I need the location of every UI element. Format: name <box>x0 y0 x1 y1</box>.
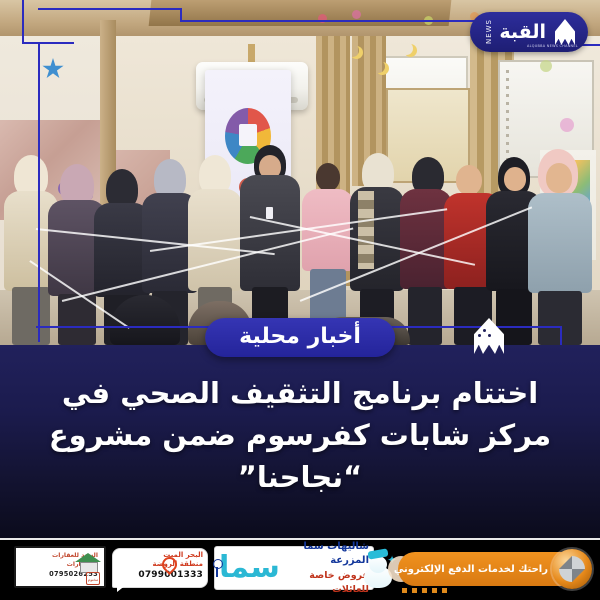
graphic-line <box>22 0 24 44</box>
headline-line-1: اختتام برنامج التثقيف الصحي في <box>26 372 574 414</box>
graphic-line <box>22 42 74 44</box>
person <box>528 149 594 345</box>
sponsor-card-dead-sea[interactable]: البحر الميت منطقة الروضة 0799001333 <box>112 548 208 588</box>
sponsor-1-stamp: مختوم <box>86 572 100 585</box>
news-card: NEWS القبة ALQUBBA NEWS CHANNEL أخبار مح… <box>0 0 600 600</box>
bubble-tail <box>117 585 126 592</box>
ceiling-dot-icon <box>318 14 327 23</box>
ceiling-dot-icon <box>352 10 361 19</box>
logo-subtitle: ALQUBBA NEWS CHANNEL <box>527 44 578 48</box>
sponsor-card-sanad[interactable]: السند للعقارات والسيارات 0795026253 مختو… <box>14 546 106 588</box>
squiggle-decoration <box>402 588 452 593</box>
category-badge[interactable]: أخبار محلية <box>205 318 395 357</box>
sponsor-4-line-1: راحتك لخدمات الدفع الإلكتروني <box>394 564 548 575</box>
sponsor-3-text: شاليهات سما المزرعة عروض خاصة للعائلات <box>284 540 369 597</box>
graphic-line <box>38 42 40 342</box>
sponsor-3-line-2: عروض خاصة للعائلات <box>284 569 369 597</box>
sponsor-2-line-2: منطقة الروضة <box>117 560 203 569</box>
graphic-line <box>180 20 480 22</box>
sponsor-2-line-1: البحر الميت <box>117 551 203 560</box>
rahtak-logo-icon <box>552 549 592 589</box>
ceiling-beam <box>149 0 452 26</box>
wall-dot-icon <box>560 118 574 132</box>
wall-dot-icon <box>540 60 552 72</box>
logo-arabic-name: القبة <box>499 23 546 42</box>
sponsor-card-sama[interactable]: شاليهات سما المزرعة عروض خاصة للعائلات س… <box>214 546 374 590</box>
location-pin-icon <box>162 557 173 568</box>
sponsor-2-phone[interactable]: 0799001333 <box>117 570 203 580</box>
moon-decoration-icon <box>400 42 413 55</box>
scarf <box>358 191 374 269</box>
graphic-line <box>560 326 562 345</box>
location-pin-icon <box>213 559 221 577</box>
logo-news-label: NEWS <box>485 19 493 44</box>
headline-line-2: مركز شابات كفرسوم ضمن مشروع <box>26 414 574 456</box>
dome-emblem-icon <box>466 318 512 356</box>
sponsor-3-logo: سما <box>219 553 280 583</box>
sponsor-card-rahtak[interactable]: راحتك لخدمات الدفع الإلكتروني <box>398 552 588 586</box>
headline-line-3: “نجاحنا” <box>26 456 574 498</box>
graphic-line <box>180 8 182 20</box>
id-badge <box>266 207 273 219</box>
house-icon <box>75 553 101 573</box>
dome-icon <box>552 19 578 45</box>
moon-decoration-icon <box>372 60 385 73</box>
channel-logo[interactable]: NEWS القبة ALQUBBA NEWS CHANNEL <box>470 12 588 52</box>
graphic-line <box>38 8 180 10</box>
person <box>110 285 180 345</box>
headline: اختتام برنامج التثقيف الصحي في مركز شابا… <box>0 372 600 498</box>
moon-decoration-icon <box>346 44 359 57</box>
sponsor-3-line-1: شاليهات سما المزرعة <box>284 540 369 569</box>
